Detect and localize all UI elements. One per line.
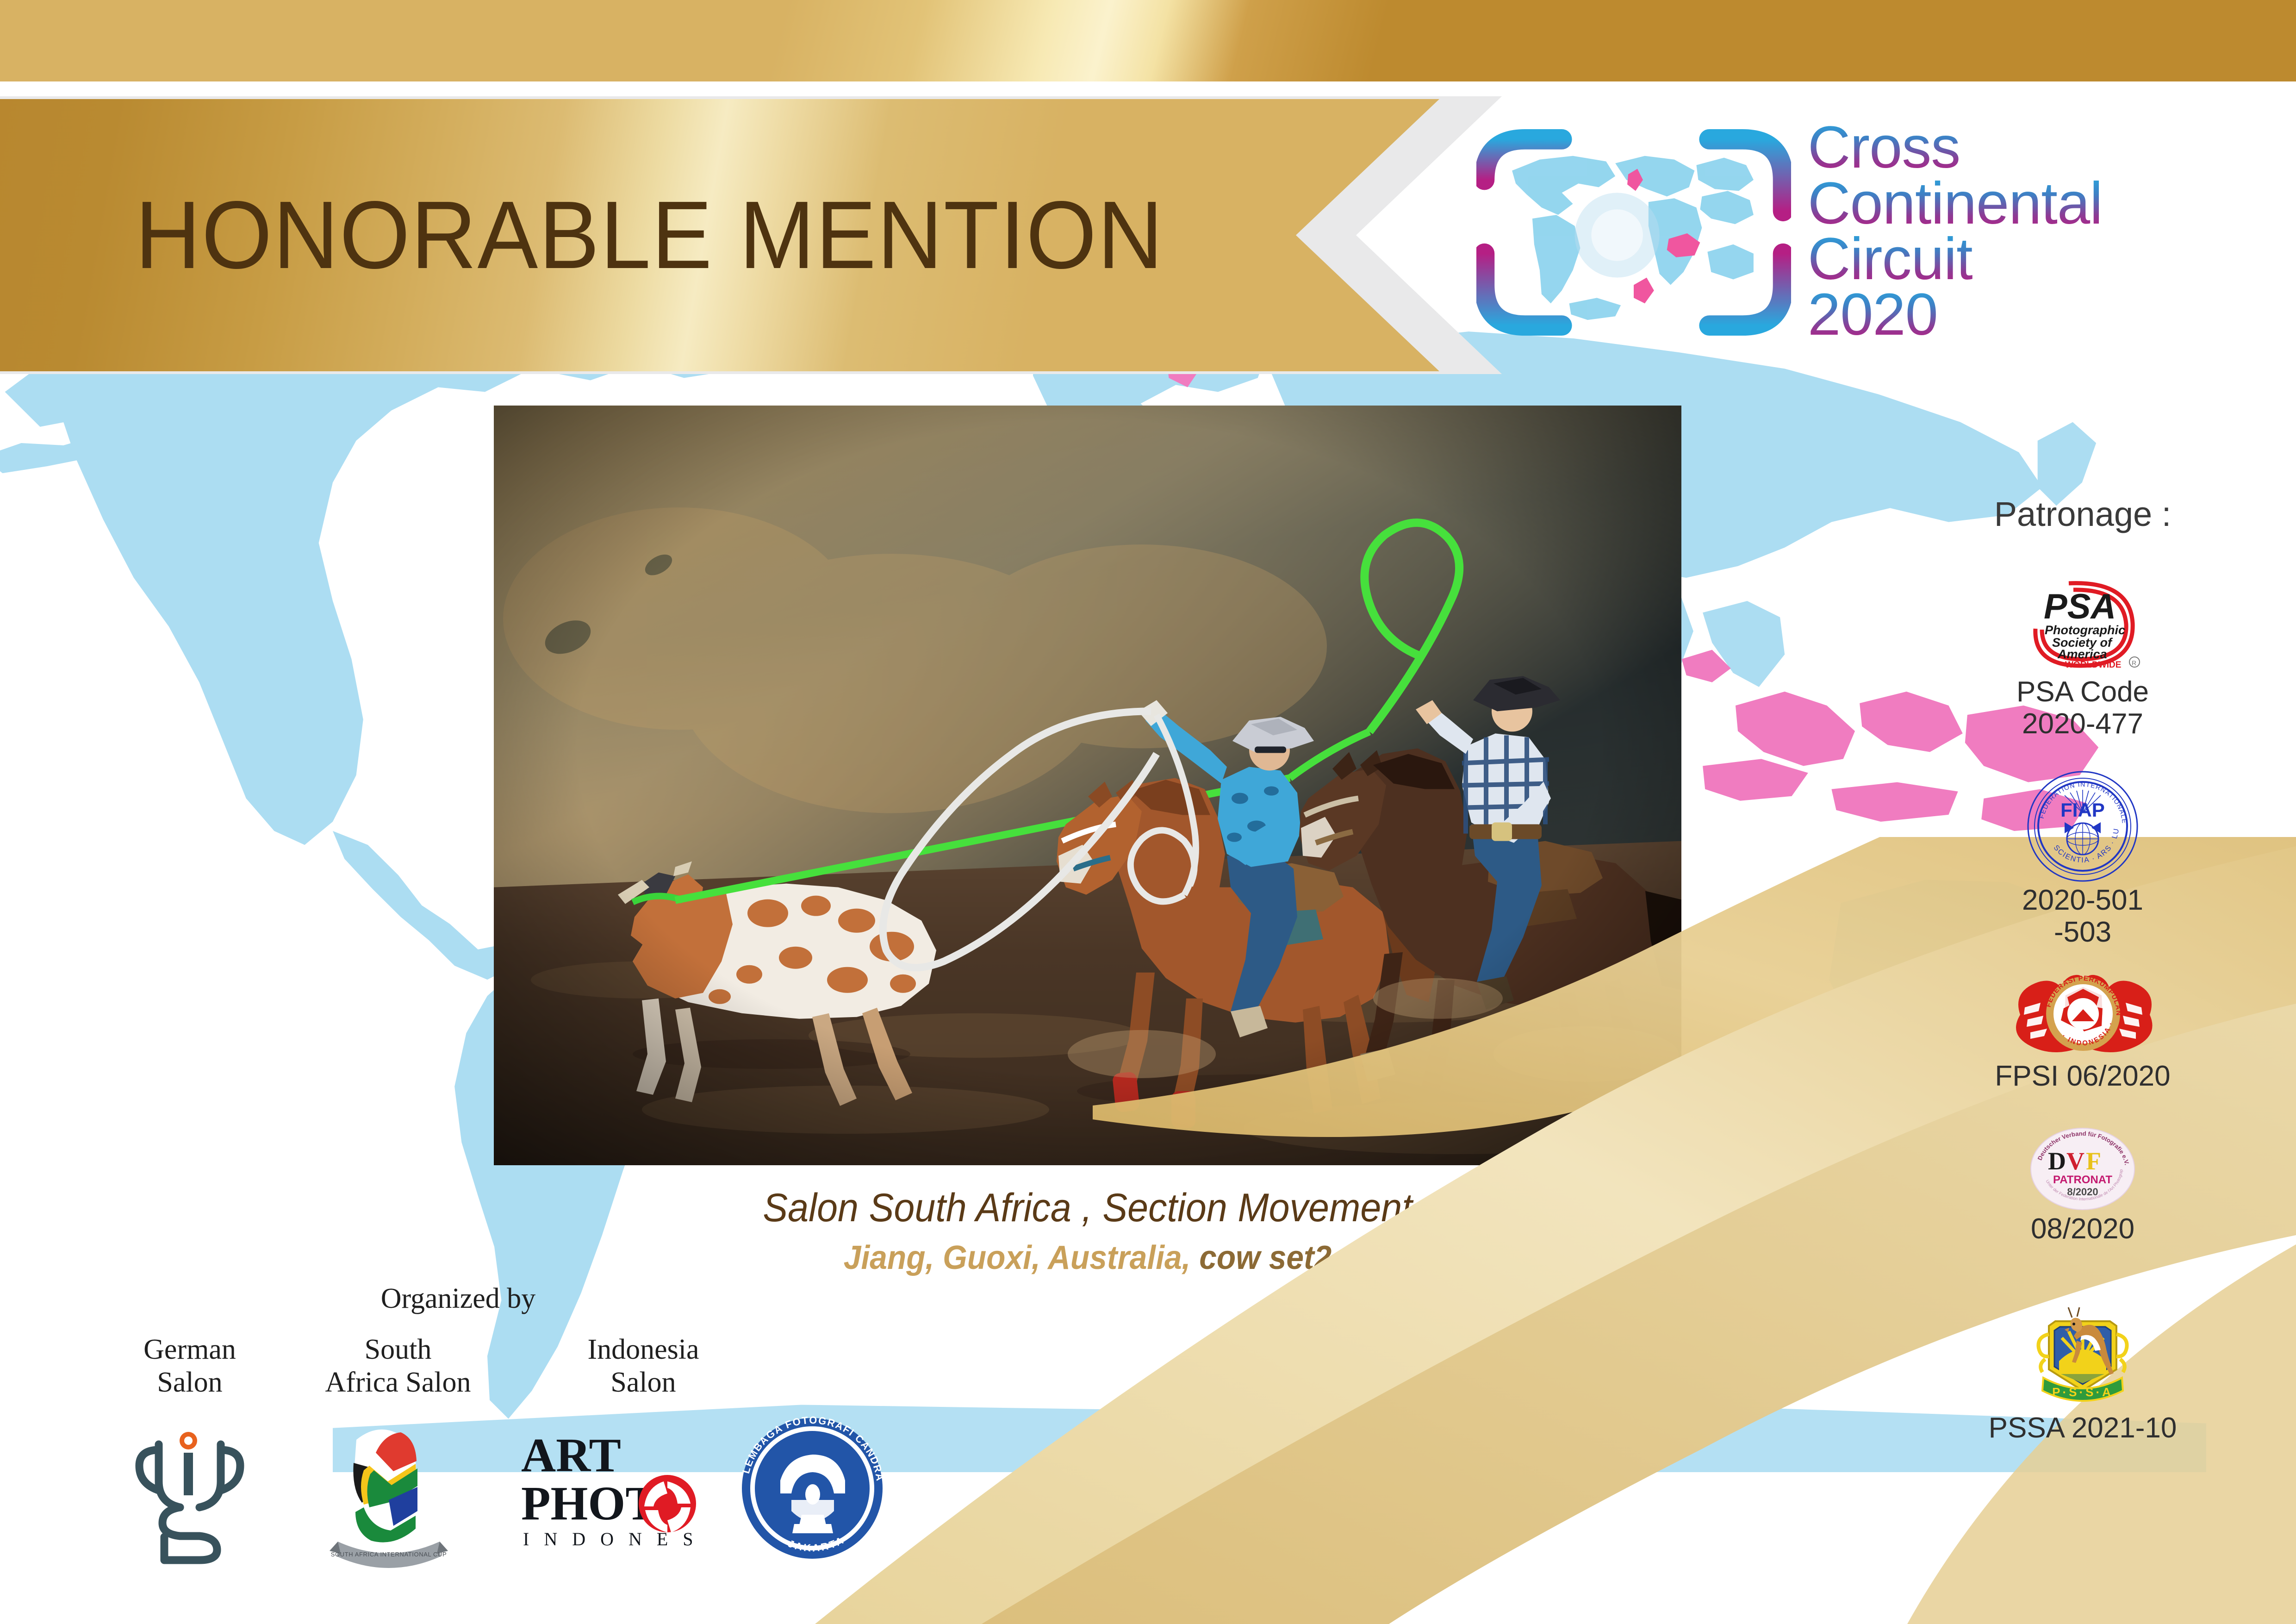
svg-text:R: R — [2132, 659, 2136, 667]
fiap-code: 2020-501 -503 — [1935, 884, 2231, 949]
svg-text:FIAP: FIAP — [2060, 799, 2105, 821]
patronage-item-psa: PSA Photographic Society of America WORL… — [1935, 569, 2231, 740]
cross-continental-circuit-logo: Cross Continental Circuit 2020 — [1476, 116, 2263, 347]
patronage-item-fpsi: FEDERASI PERKUMPULAN SENI FOTO · INDONES… — [1935, 963, 2231, 1092]
award-photograph — [494, 406, 1681, 1165]
svg-text:PSA: PSA — [2044, 587, 2116, 626]
fpsi-code: FPSI 06/2020 — [1935, 1060, 2231, 1092]
svg-text:8/2020: 8/2020 — [2067, 1186, 2098, 1198]
caption-work-title: cow set2 — [1190, 1239, 1332, 1276]
svg-text:D: D — [2048, 1147, 2066, 1175]
certificate-page: HONORABLE MENTION — [0, 0, 2296, 1624]
brand-line-4: 2020 — [1808, 287, 2103, 343]
top-gold-bar-gap — [0, 81, 2296, 96]
organizer-label-german: German Salon — [93, 1333, 287, 1399]
svg-text:PATRONAT: PATRONAT — [2053, 1174, 2112, 1186]
award-title: HONORABLE MENTION — [135, 187, 1164, 283]
photo-caption-salon: Salon South Africa , Section Movement — [529, 1185, 1646, 1231]
photo-caption-author: Jiang, Guoxi, Australia, cow set2 — [529, 1239, 1646, 1277]
psa-logo-icon: PSA Photographic Society of America WORL… — [1935, 569, 2231, 676]
patronage-item-dvf: Deutscher Verband für Fotografie e.V. Un… — [1935, 1125, 2231, 1245]
svg-text:V: V — [2066, 1147, 2084, 1175]
pssa-code: PSSA 2021-10 — [1935, 1412, 2231, 1444]
patronage-item-fiap: FEDERATION INTERNATIONALE DE L'ART PHOTO… — [1935, 768, 2231, 949]
patronage-heading: Patronage : — [1935, 494, 2231, 534]
svg-text:ART: ART — [521, 1429, 621, 1482]
art-photo-country: I N D O N E S I A — [523, 1529, 703, 1549]
pssa-logo-icon: P·S·S·A — [1935, 1292, 2231, 1412]
organizer-label-indonesia: Indonesia Salon — [546, 1333, 740, 1399]
svg-text:America: America — [2057, 647, 2107, 661]
dvf-logo-icon: Deutscher Verband für Fotografie e.V. Un… — [1935, 1125, 2231, 1213]
svg-text:WORLDWIDE: WORLDWIDE — [2065, 660, 2121, 670]
caption-author-name: Jiang, Guoxi, Australia, — [844, 1239, 1191, 1276]
art-photo-indonesia-logo: ART PHOT I N D O N E S I A — [518, 1421, 703, 1569]
psa-code: PSA Code 2020-477 — [1935, 676, 2231, 740]
world-map-bracket-logo-icon — [1476, 123, 1791, 340]
dvf-code: 08/2020 — [1935, 1213, 2231, 1245]
svg-text:Photographic: Photographic — [2045, 623, 2125, 637]
svg-text:PHOT: PHOT — [521, 1477, 658, 1530]
brand-wordmark: Cross Continental Circuit 2020 — [1808, 120, 2103, 343]
organized-by-heading: Organized by — [296, 1282, 620, 1315]
svg-text:P·S·S·A: P·S·S·A — [2052, 1385, 2113, 1399]
svg-text:F: F — [2086, 1147, 2101, 1175]
organizer-label-south-africa: South Africa Salon — [296, 1333, 500, 1399]
top-gold-bar — [0, 0, 2296, 81]
trophy-camera-icon — [132, 1421, 248, 1569]
brand-line-1: Cross — [1808, 120, 2103, 175]
south-africa-flag-shield-icon: SOUTH AFRICA INTERNATIONAL CUP — [319, 1412, 458, 1574]
german-salon-logo — [132, 1421, 248, 1569]
south-africa-ribbon-text: SOUTH AFRICA INTERNATIONAL CUP — [331, 1551, 447, 1558]
award-banner: HONORABLE MENTION — [0, 99, 1439, 371]
brand-line-3: Circuit — [1808, 231, 2103, 287]
lembaga-fotografi-candra-naya-logo: LEMBAGA FOTOGRAFI CANDRA NAYA · JAKARTA … — [736, 1412, 889, 1565]
patronage-item-pssa: P·S·S·A PSSA 2021-10 — [1935, 1292, 2231, 1444]
fpsi-logo-icon: FEDERASI PERKUMPULAN SENI FOTO · INDONES… — [1935, 963, 2231, 1060]
brand-line-2: Continental — [1808, 176, 2103, 231]
fiap-logo-icon: FEDERATION INTERNATIONALE DE L'ART PHOTO… — [1935, 768, 2231, 884]
south-africa-salon-logo: SOUTH AFRICA INTERNATIONAL CUP — [319, 1412, 458, 1574]
